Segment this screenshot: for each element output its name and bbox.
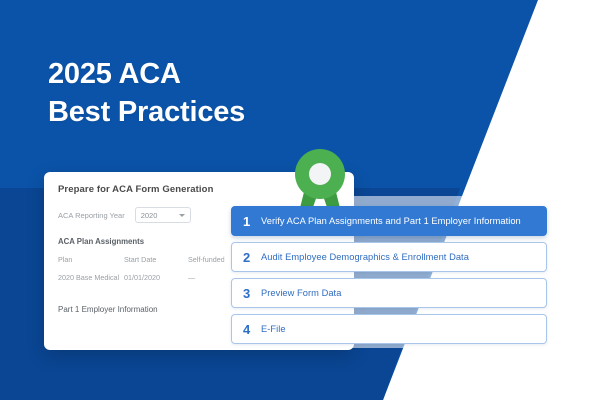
step-1-label: Verify ACA Plan Assignments and Part 1 E… (261, 216, 521, 226)
steps-list: 1 Verify ACA Plan Assignments and Part 1… (231, 206, 547, 344)
step-2-number: 2 (243, 250, 261, 265)
step-2-label: Audit Employee Demographics & Enrollment… (261, 252, 469, 262)
reporting-year-label: ACA Reporting Year (58, 211, 125, 220)
page-title-line2: Best Practices (48, 93, 245, 131)
reporting-year-select[interactable]: 2020 (135, 207, 191, 223)
step-3-button[interactable]: 3 Preview Form Data (231, 278, 547, 308)
column-header-start-date: Start Date (124, 255, 188, 264)
poster-canvas: 2025 ACA Best Practices Prepare for ACA … (0, 0, 600, 400)
page-title: 2025 ACA Best Practices (48, 55, 245, 132)
cell-start-date: 01/01/2020 (124, 273, 188, 283)
page-title-line1: 2025 ACA (48, 58, 181, 90)
chevron-down-icon (179, 214, 185, 217)
step-3-number: 3 (243, 286, 261, 301)
step-4-label: E-File (261, 324, 286, 334)
reporting-year-value: 2020 (141, 211, 158, 220)
step-4-number: 4 (243, 322, 261, 337)
step-1-button[interactable]: 1 Verify ACA Plan Assignments and Part 1… (231, 206, 547, 236)
step-2-button[interactable]: 2 Audit Employee Demographics & Enrollme… (231, 242, 547, 272)
step-3-label: Preview Form Data (261, 288, 341, 298)
step-1-number: 1 (243, 214, 261, 229)
step-4-button[interactable]: 4 E-File (231, 314, 547, 344)
column-header-plan: Plan (58, 255, 124, 264)
cell-plan: 2020 Base Medical (58, 273, 124, 283)
